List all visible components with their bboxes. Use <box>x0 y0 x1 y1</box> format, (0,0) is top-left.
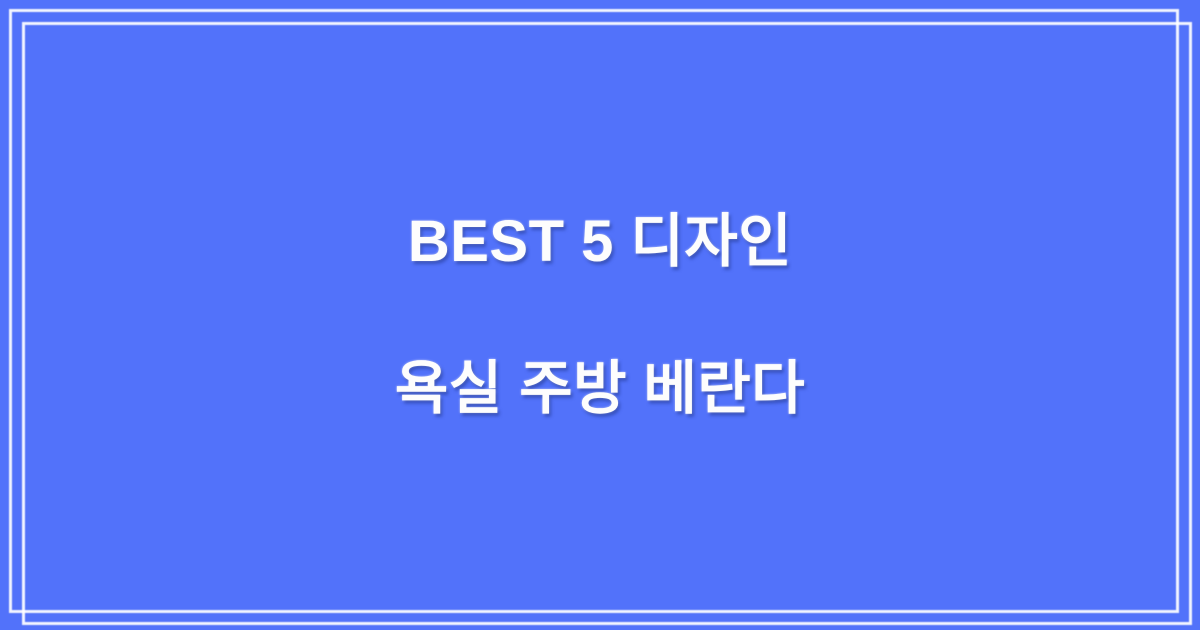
headline-line-2: 욕실 주방 베란다 <box>395 352 805 425</box>
page-title: BEST 5 디자인 욕실 주방 베란다 <box>395 132 805 497</box>
headline-line-1: BEST 5 디자인 <box>395 205 805 278</box>
headline-container: BEST 5 디자인 욕실 주방 베란다 <box>0 0 1200 630</box>
thumbnail-card: BEST 5 디자인 욕실 주방 베란다 <box>0 0 1200 630</box>
